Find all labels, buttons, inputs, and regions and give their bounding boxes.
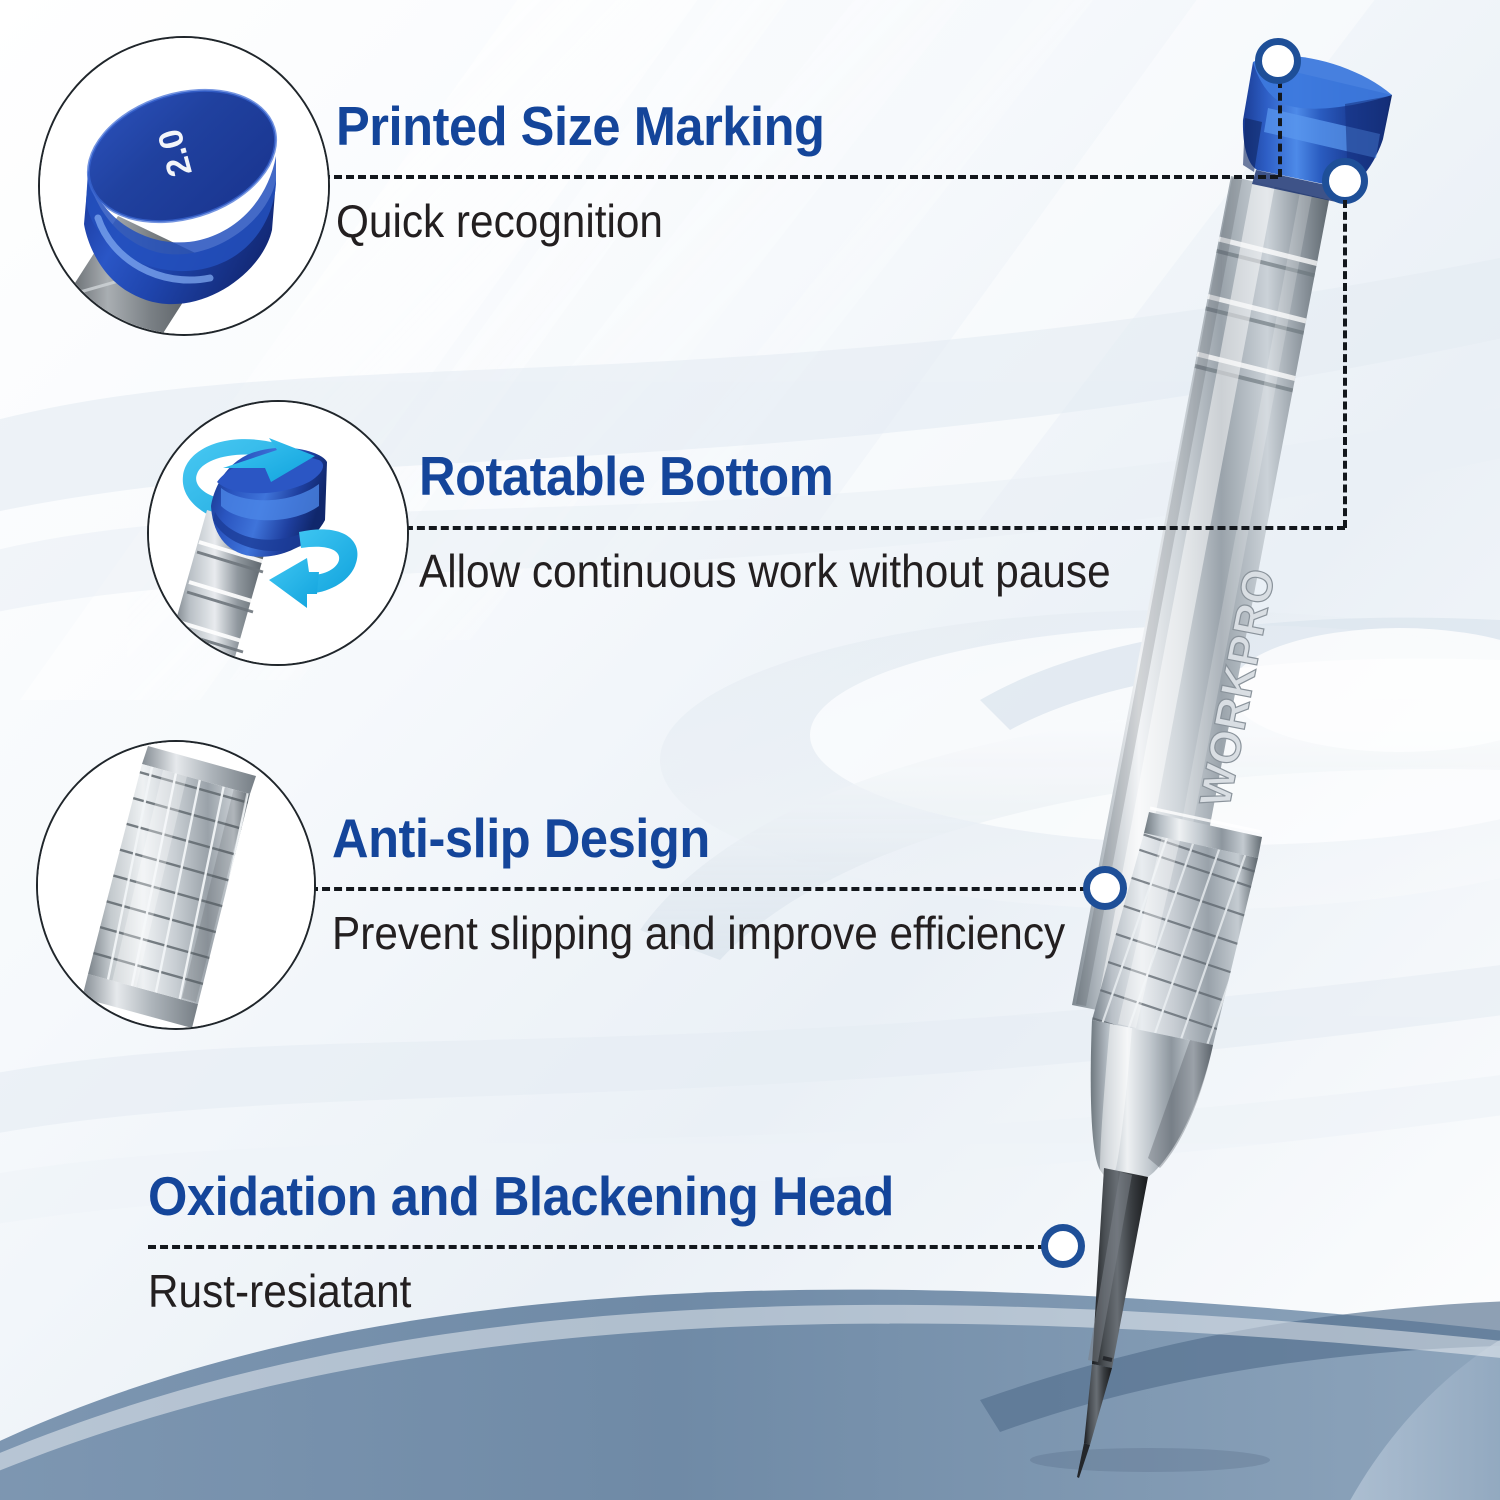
callout-3-subtitle: Prevent slipping and improve efficiency bbox=[332, 910, 1234, 957]
callout-4-subtitle: Rust-resiatant bbox=[148, 1268, 1068, 1315]
inset-rotatable-bottom bbox=[147, 400, 409, 666]
leader-marker-1 bbox=[1255, 38, 1301, 84]
inset-anti-slip-design bbox=[36, 740, 316, 1030]
inset-printed-size-marking: 2.0 bbox=[38, 36, 330, 336]
callout-4-title: Oxidation and Blackening Head bbox=[148, 1168, 1068, 1224]
callout-anti-slip-design: Anti-slip Design Prevent slipping and im… bbox=[332, 810, 1312, 957]
inset-1-art: 2.0 bbox=[40, 38, 328, 334]
callout-2-title: Rotatable Bottom bbox=[419, 448, 1321, 504]
inset-3-art bbox=[38, 742, 314, 1028]
callout-printed-size-marking: Printed Size Marking Quick recognition bbox=[336, 98, 1316, 245]
callout-3-title: Anti-slip Design bbox=[332, 810, 1234, 866]
inset-2-art bbox=[149, 402, 407, 664]
callout-oxidation-blackening-head: Oxidation and Blackening Head Rust-resia… bbox=[148, 1168, 1148, 1315]
leader-marker-2 bbox=[1322, 158, 1368, 204]
callout-2-subtitle: Allow continuous work without pause bbox=[419, 548, 1321, 595]
product-chuck bbox=[1091, 1020, 1213, 1185]
infographic-canvas: WORKPRO bbox=[0, 0, 1500, 1500]
callout-1-title: Printed Size Marking bbox=[336, 98, 1238, 154]
callout-1-subtitle: Quick recognition bbox=[336, 198, 1238, 245]
callout-rotatable-bottom: Rotatable Bottom Allow continuous work w… bbox=[419, 448, 1399, 595]
